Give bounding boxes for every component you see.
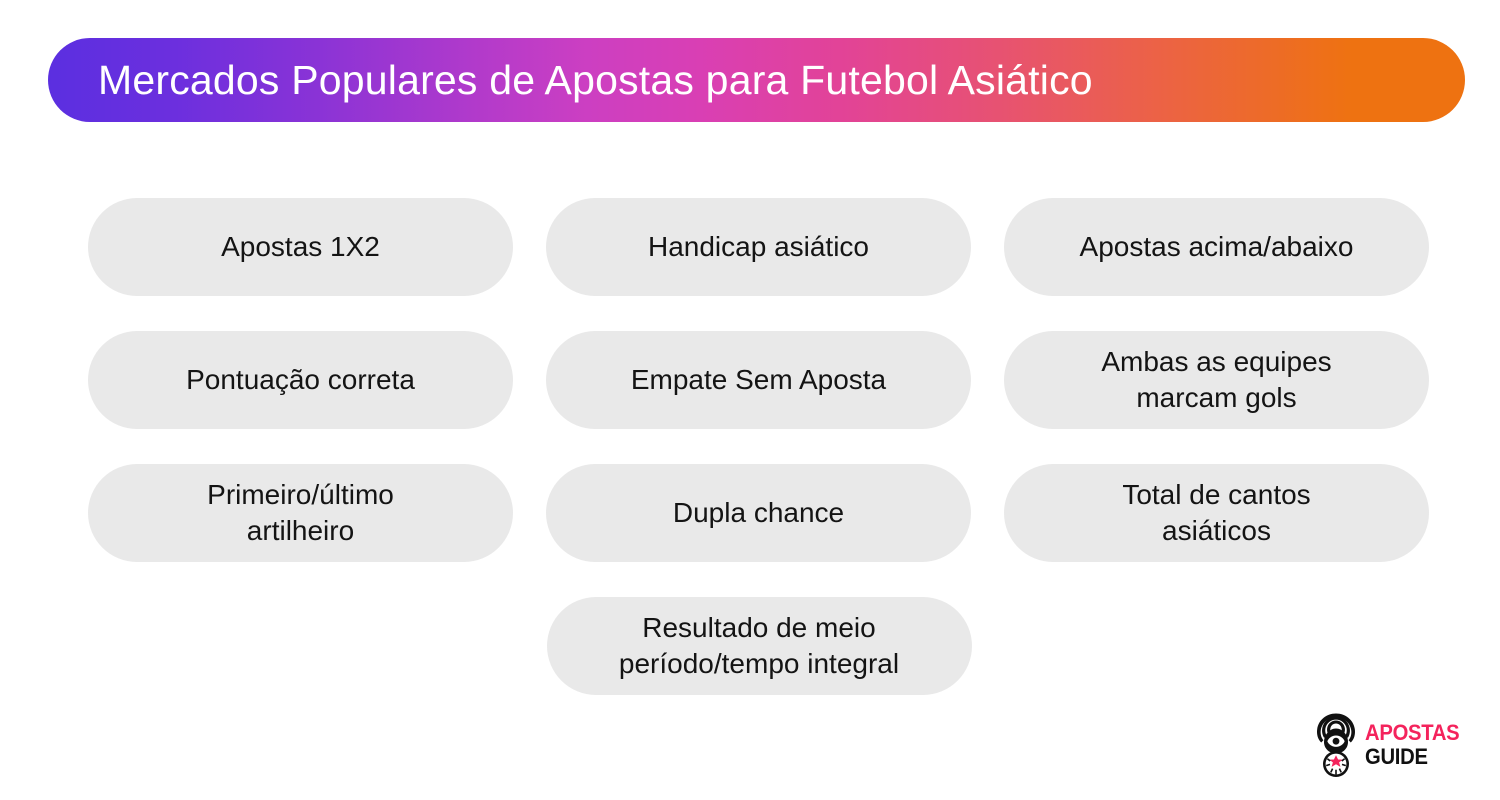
- market-pill[interactable]: Pontuação correta: [88, 331, 513, 429]
- market-pill[interactable]: Resultado de meio período/tempo integral: [547, 597, 972, 695]
- market-pill[interactable]: Ambas as equipes marcam gols: [1004, 331, 1429, 429]
- header-banner: Mercados Populares de Apostas para Futeb…: [48, 38, 1465, 122]
- logo-wordmark: APOSTAS GUIDE: [1365, 722, 1468, 768]
- market-pill-label: Primeiro/último artilheiro: [207, 477, 394, 549]
- market-pill-label: Apostas acima/abaixo: [1080, 229, 1354, 265]
- markets-row-3: Primeiro/último artilheiro Dupla chance …: [88, 464, 1430, 562]
- apostas-guide-mascot-icon: [1313, 712, 1359, 778]
- market-pill[interactable]: Empate Sem Aposta: [546, 331, 971, 429]
- market-pill[interactable]: Apostas acima/abaixo: [1004, 198, 1429, 296]
- market-pill-label: Apostas 1X2: [221, 229, 380, 265]
- infographic-canvas: Mercados Populares de Apostas para Futeb…: [0, 0, 1500, 800]
- market-pill-label: Resultado de meio período/tempo integral: [619, 610, 899, 682]
- market-pill-label: Ambas as equipes marcam gols: [1101, 344, 1331, 416]
- market-pill-label: Total de cantos asiáticos: [1122, 477, 1310, 549]
- logo-brand-primary: APOSTAS: [1365, 722, 1459, 744]
- markets-row-4: Resultado de meio período/tempo integral: [88, 597, 1430, 695]
- market-pill[interactable]: Handicap asiático: [546, 198, 971, 296]
- logo-brand-secondary: GUIDE: [1365, 746, 1459, 768]
- page-title: Mercados Populares de Apostas para Futeb…: [98, 57, 1093, 104]
- markets-row-2: Pontuação correta Empate Sem Aposta Amba…: [88, 331, 1430, 429]
- market-pill-label: Empate Sem Aposta: [631, 362, 886, 398]
- brand-logo: APOSTAS GUIDE: [1313, 712, 1468, 778]
- market-pill[interactable]: Apostas 1X2: [88, 198, 513, 296]
- market-pill[interactable]: Primeiro/último artilheiro: [88, 464, 513, 562]
- market-pill-label: Handicap asiático: [648, 229, 869, 265]
- market-pill-label: Dupla chance: [673, 495, 844, 531]
- market-pill[interactable]: Dupla chance: [546, 464, 971, 562]
- markets-grid: Apostas 1X2 Handicap asiático Apostas ac…: [88, 198, 1430, 695]
- markets-row-1: Apostas 1X2 Handicap asiático Apostas ac…: [88, 198, 1430, 296]
- market-pill[interactable]: Total de cantos asiáticos: [1004, 464, 1429, 562]
- market-pill-label: Pontuação correta: [186, 362, 415, 398]
